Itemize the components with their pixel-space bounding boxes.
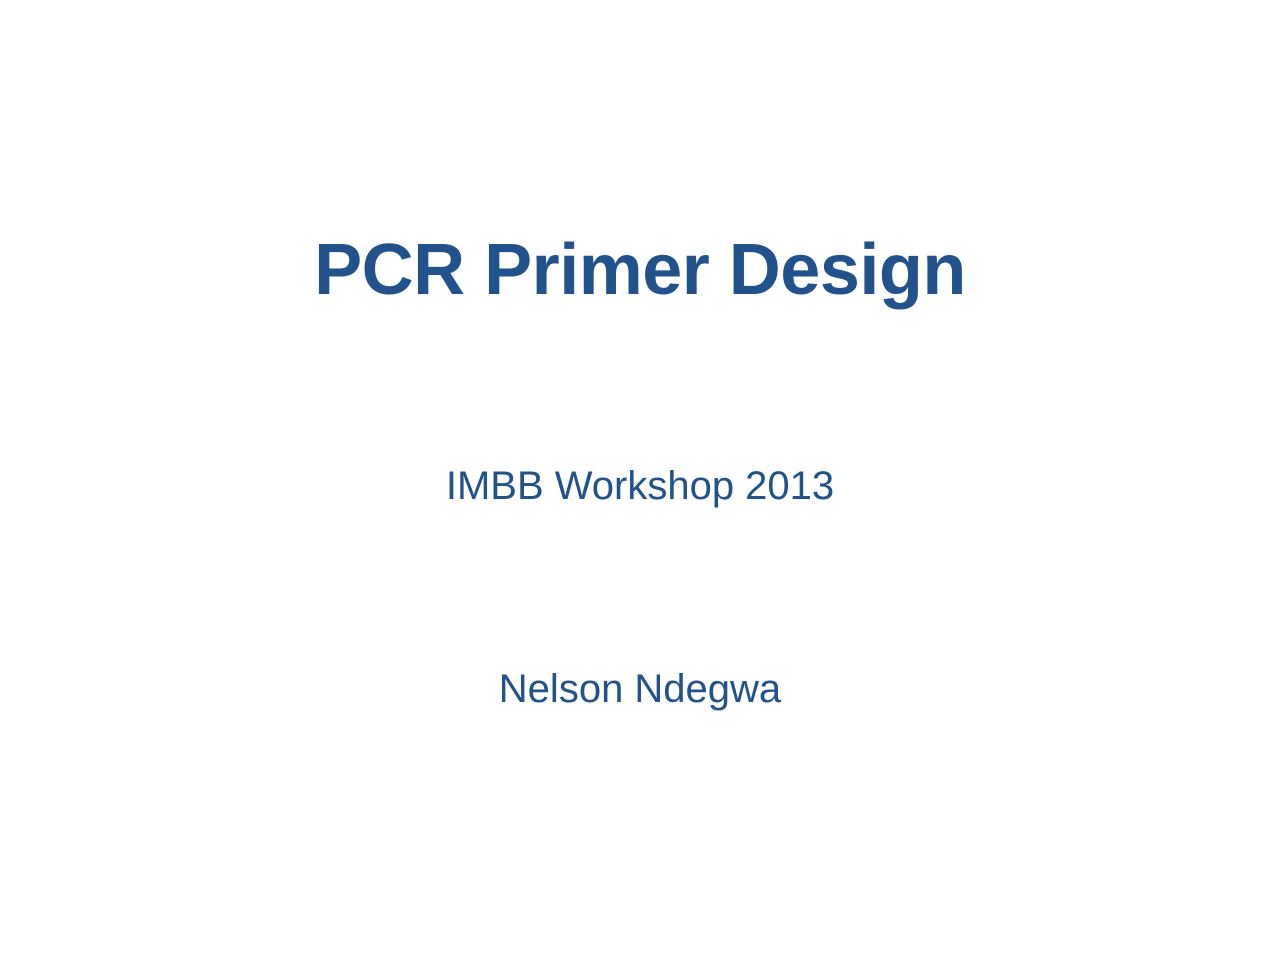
author-placeholder: Nelson Ndegwa — [0, 665, 1280, 713]
subtitle-placeholder: IMBB Workshop 2013 — [0, 462, 1280, 510]
slide-subtitle: IMBB Workshop 2013 — [0, 462, 1280, 510]
page-title: PCR Primer Design — [0, 230, 1280, 311]
title-placeholder: PCR Primer Design — [0, 230, 1280, 311]
title-slide: PCR Primer Design IMBB Workshop 2013 Nel… — [0, 0, 1280, 960]
author-name: Nelson Ndegwa — [0, 665, 1280, 713]
